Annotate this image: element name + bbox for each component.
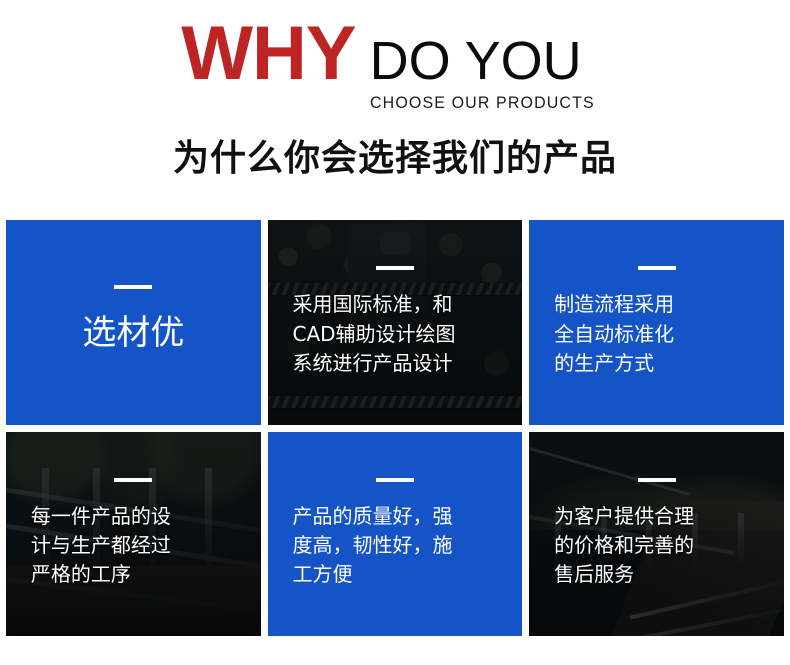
headline-tagline: CHOOSE OUR PRODUCTS xyxy=(370,93,595,113)
feature-card-text: 制造流程采用 全自动标准化 的生产方式 xyxy=(554,290,759,378)
banner-header: WHY DO YOU CHOOSE OUR PRODUCTS 为什么你会选择我们… xyxy=(0,0,790,181)
divider-dash-icon xyxy=(638,478,676,482)
divider-dash-icon xyxy=(376,478,414,482)
divider-dash-icon xyxy=(114,285,152,289)
feature-card-text: 选材优 xyxy=(22,309,245,359)
feature-grid: 选材优 采用国际标准，和 CAD辅助设计绘图 系统进行产品设计 xyxy=(6,220,784,636)
feature-card-material-selection[interactable]: 选材优 xyxy=(6,220,261,425)
promo-banner: WHY DO YOU CHOOSE OUR PRODUCTS 为什么你会选择我们… xyxy=(0,0,790,665)
headline-right-block: DO YOU CHOOSE OUR PRODUCTS xyxy=(370,34,609,115)
feature-card-text: 为客户提供合理 的价格和完善的 售后服务 xyxy=(554,502,759,590)
feature-card-strict-process[interactable]: 每一件产品的设 计与生产都经过 严格的工序 xyxy=(6,432,261,637)
divider-dash-icon xyxy=(638,266,676,270)
feature-card-text: 采用国际标准，和 CAD辅助设计绘图 系统进行产品设计 xyxy=(292,290,497,378)
headline-subtitle-chinese: 为什么你会选择我们的产品 xyxy=(0,129,790,181)
feature-card-quality-strength-toughness[interactable]: 产品的质量好，强 度高，韧性好，施 工方便 xyxy=(268,432,523,637)
headline-do-you: DO YOU xyxy=(370,34,582,88)
headline-why: WHY xyxy=(181,18,355,90)
feature-card-fair-price-after-sales[interactable]: 为客户提供合理 的价格和完善的 售后服务 xyxy=(529,432,784,637)
feature-card-text: 产品的质量好，强 度高，韧性好，施 工方便 xyxy=(292,502,497,590)
feature-card-international-standard-cad[interactable]: 采用国际标准，和 CAD辅助设计绘图 系统进行产品设计 xyxy=(268,220,523,425)
feature-card-automated-standard-production[interactable]: 制造流程采用 全自动标准化 的生产方式 xyxy=(529,220,784,425)
divider-dash-icon xyxy=(114,478,152,482)
divider-dash-icon xyxy=(376,266,414,270)
headline: WHY DO YOU CHOOSE OUR PRODUCTS xyxy=(0,18,790,115)
feature-card-text: 每一件产品的设 计与生产都经过 严格的工序 xyxy=(31,502,236,590)
